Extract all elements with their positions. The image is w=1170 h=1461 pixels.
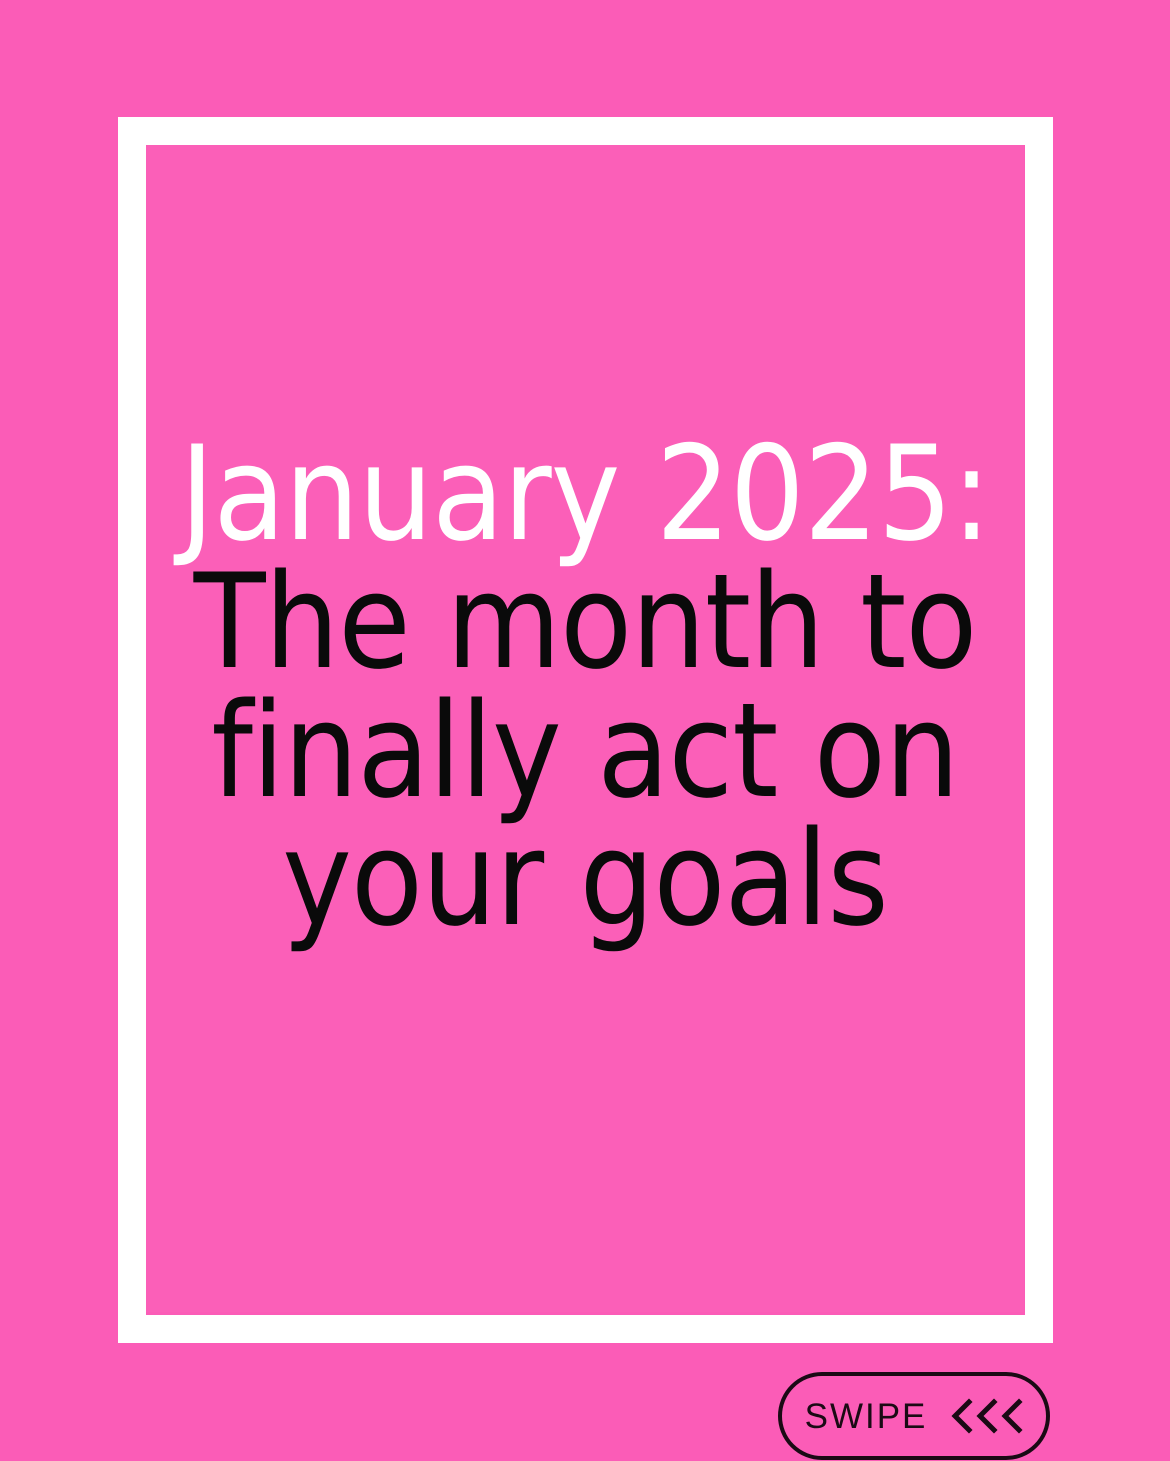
swipe-button[interactable]: SWIPE [778, 1372, 1050, 1460]
headline-block: January 2025: The month to finally act o… [140, 430, 1030, 944]
swipe-button-label: SWIPE [805, 1399, 928, 1434]
chevron-left-triple-icon [947, 1396, 1023, 1436]
headline-line-2: The month to [140, 558, 1030, 686]
headline-line-1: January 2025: [140, 430, 1030, 558]
headline-line-4: your goals [140, 815, 1030, 943]
poster-canvas: January 2025: The month to finally act o… [0, 0, 1170, 1461]
headline-line-3: finally act on [140, 687, 1030, 815]
